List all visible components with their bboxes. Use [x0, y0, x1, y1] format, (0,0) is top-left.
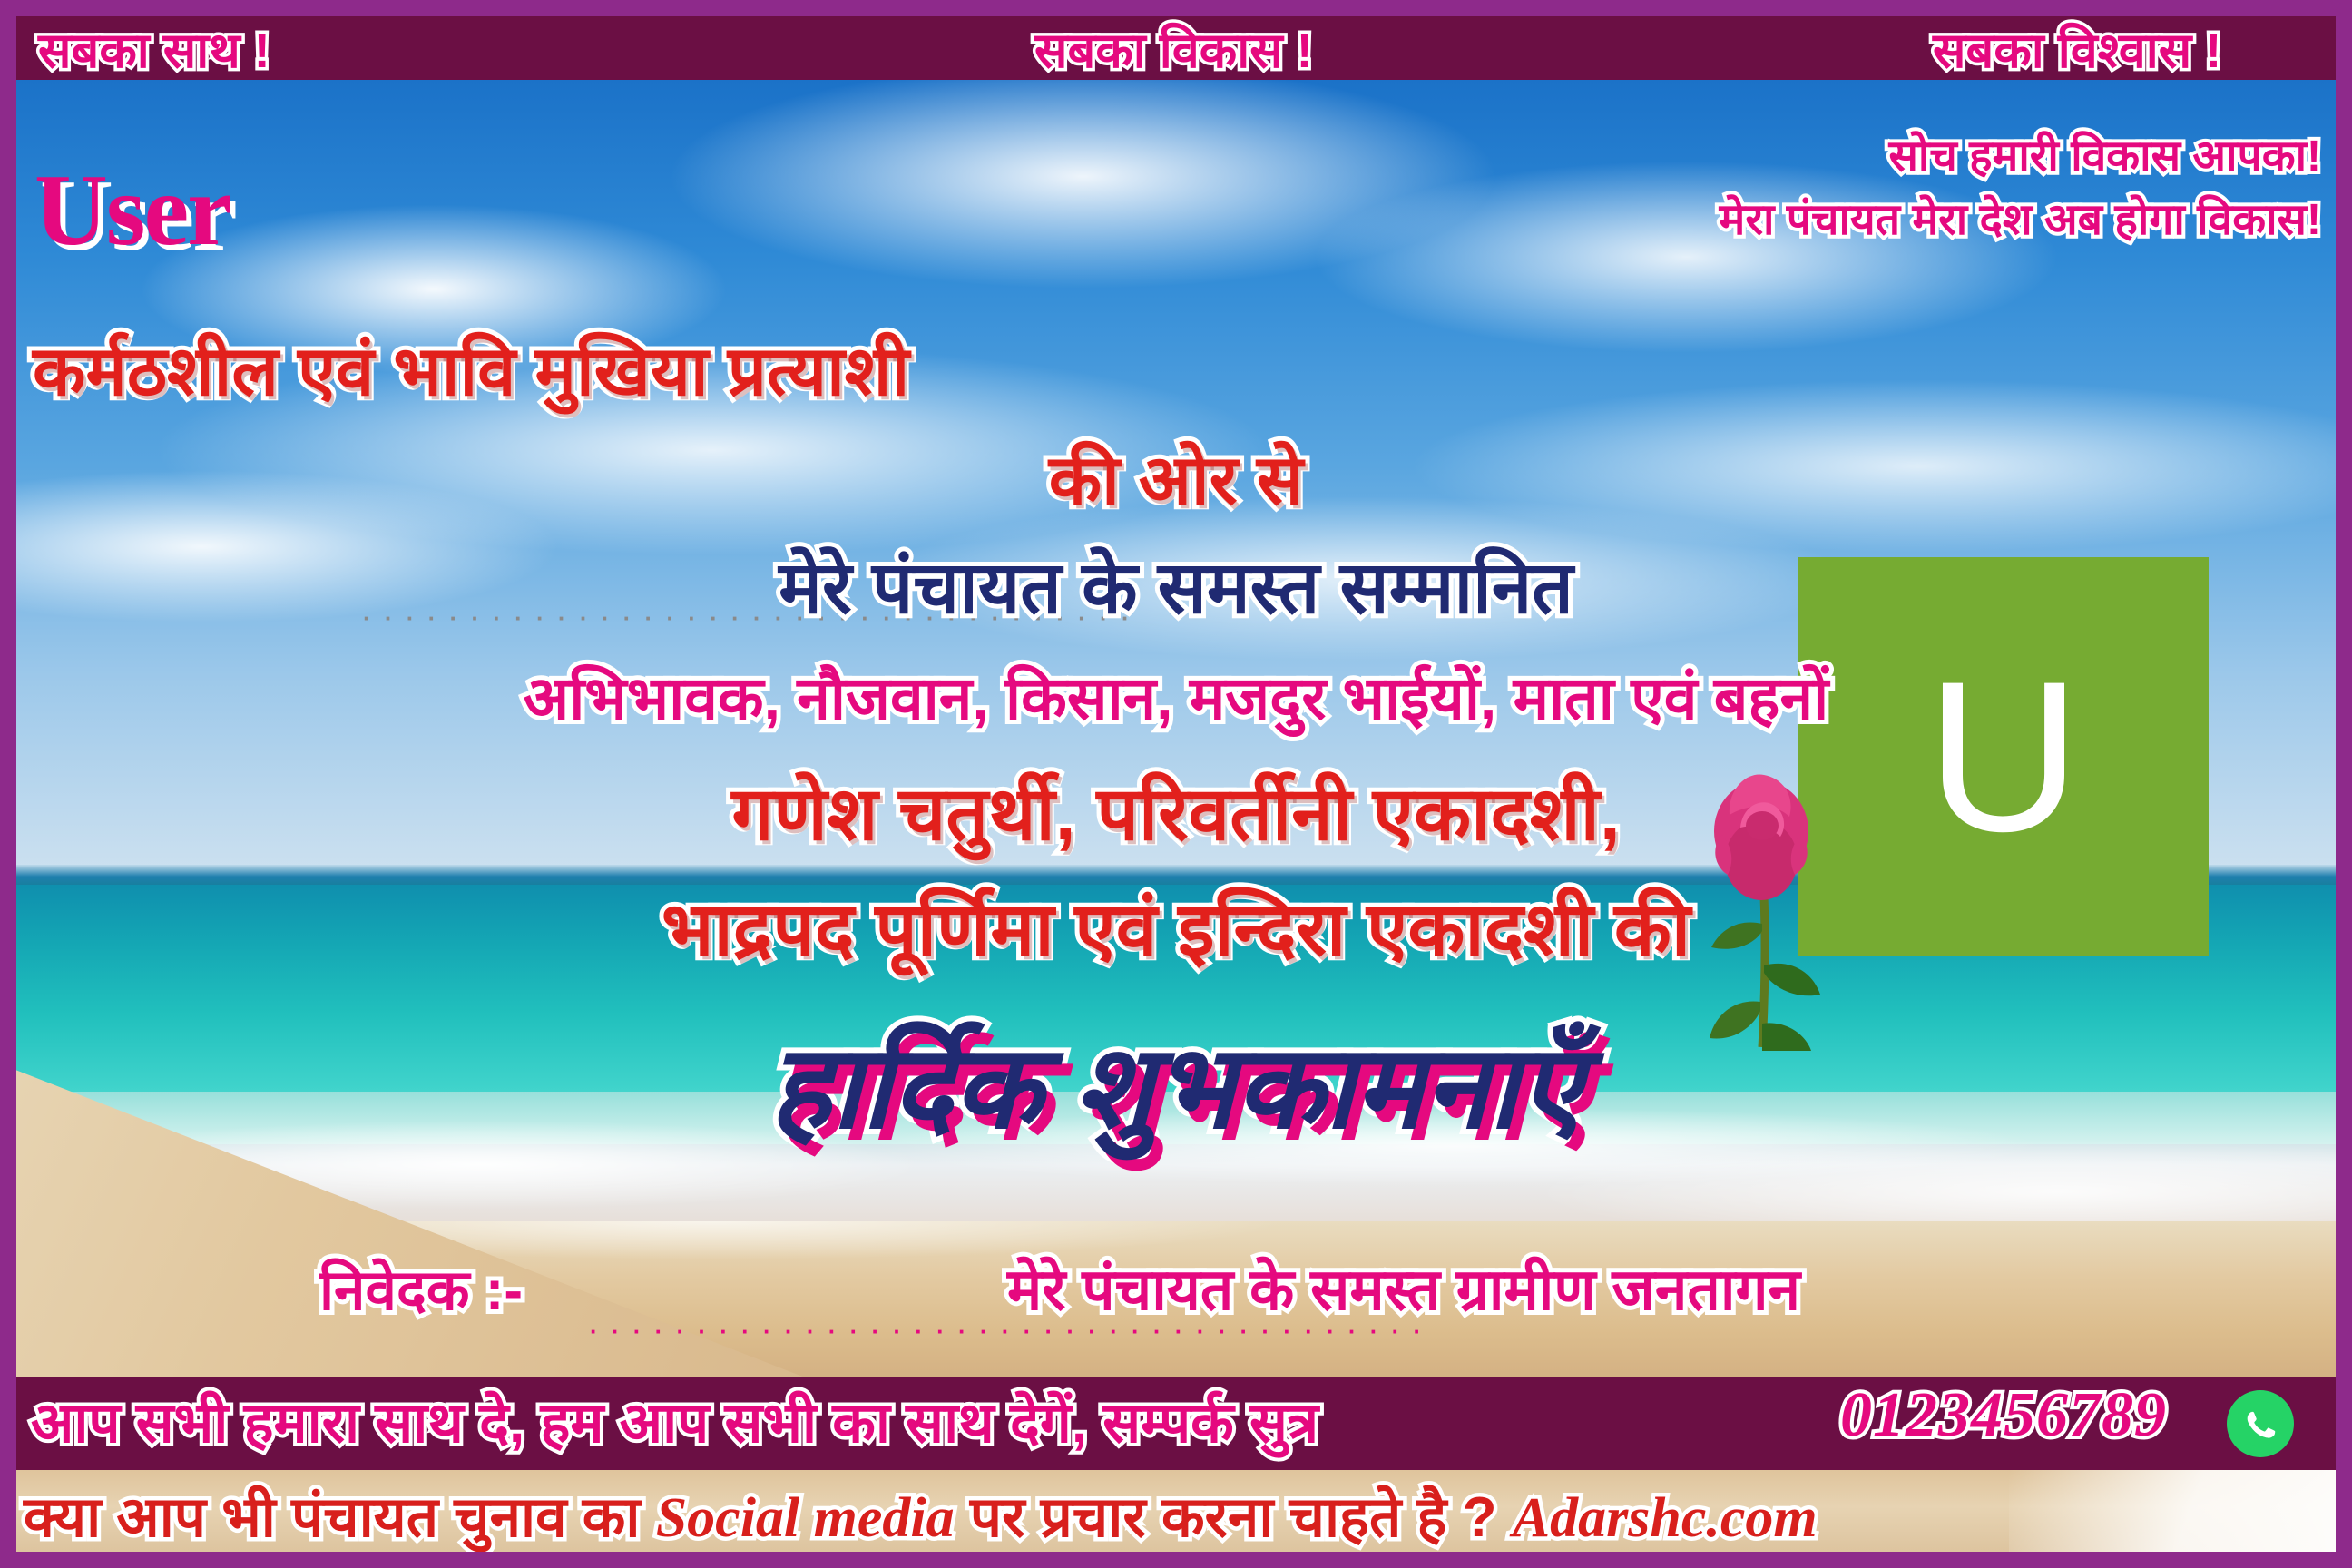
whatsapp-icon[interactable] — [2225, 1388, 2296, 1459]
body-line-3: मेरे पंचायत के समस्त सम्मानित — [779, 535, 1573, 634]
photo-placeholder-letter: U — [1926, 650, 2081, 864]
body-line-5: गणेश चतुर्थी, परिवर्तीनी एकादशी, — [731, 760, 1620, 862]
promo-social-media: Social media — [656, 1487, 955, 1549]
signature-value: मेरे पंचायत के समस्त ग्रामीण जनतागन — [1007, 1248, 1800, 1327]
candidate-name-logo: User — [34, 152, 230, 269]
bottom-message: आप सभी हमारा साथ दे, हम आप सभी का साथ दे… — [31, 1383, 1318, 1459]
body-line-4: अभिभावक, नौजवान, किसान, मजदुर भाईयों, मा… — [524, 655, 1828, 737]
promo-part-3: पर प्रचार करना चाहते है ? — [955, 1486, 1513, 1549]
body-line-1: कर्मठशील एवं भावि मुखिया प्रत्याशी — [33, 322, 909, 416]
promo-website[interactable]: Adarshc.com — [1513, 1487, 1818, 1549]
body-line-2: की ओर से — [1049, 431, 1304, 524]
slogan-sabka-vikas: सबका विकास ! — [1034, 15, 1313, 82]
body-line-6: भाद्रपद पूर्णिमा एवं इन्दिरा एकादशी की — [661, 876, 1690, 977]
slogan-sabka-saath: सबका साथ ! — [38, 15, 270, 82]
slogan-soch-hamari: सोच हमारी विकास आपका! — [1888, 125, 2321, 184]
rose-icon — [1675, 751, 1847, 1051]
slogan-mera-panchayat: मेरा पंचायत मेरा देश अब होगा विकास! — [1720, 189, 2321, 248]
contact-phone-number[interactable]: 0123456789 — [1840, 1379, 2167, 1452]
greeting-headline: हार्दिक शुभकामनाएँ — [769, 1003, 1583, 1161]
slogan-sabka-vishwas: सबका विश्वास ! — [1933, 15, 2221, 82]
poster-canvas: सबका साथ ! सबका विकास ! सबका विश्वास ! स… — [0, 0, 2352, 1568]
candidate-photo-placeholder[interactable]: U — [1798, 557, 2209, 956]
promo-text-row: क्या आप भी पंचायत चुनाव का Social media … — [24, 1477, 1818, 1553]
signature-label: निवेदक :- — [319, 1250, 523, 1327]
promo-part-1: क्या आप भी पंचायत चुनाव का — [24, 1486, 656, 1549]
